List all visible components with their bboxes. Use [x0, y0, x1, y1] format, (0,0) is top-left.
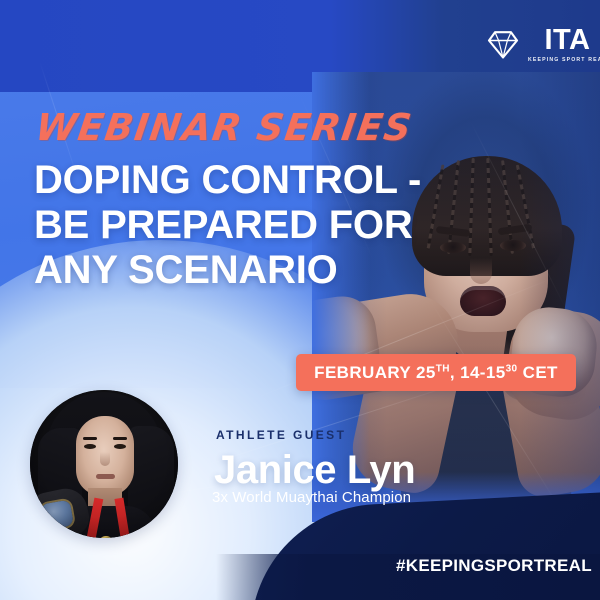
page-title: DOPING CONTROL - BE PREPARED FOR ANY SCE… — [34, 158, 474, 292]
time-range: 14-15 — [460, 363, 505, 382]
date-time-text: FEBRUARY 25TH, 14-1530 CET — [314, 363, 558, 383]
ita-diamond-logo-icon — [486, 29, 520, 61]
date-separator: , — [450, 363, 460, 382]
athlete-guest-name: Janice Lyn — [214, 450, 415, 490]
time-minutes: 30 — [506, 363, 518, 374]
headline-line-1: DOPING CONTROL - — [34, 158, 474, 203]
headline-line-3: ANY SCENARIO — [34, 248, 474, 293]
ita-tagline: KEEPING SPORT REAL — [528, 58, 600, 63]
date-day-suffix: TH — [436, 363, 450, 374]
date-time-badge: FEBRUARY 25TH, 14-1530 CET — [296, 354, 576, 391]
date-month-day: FEBRUARY 25 — [314, 363, 436, 382]
ita-wordmark: ITA — [544, 26, 590, 55]
ita-logo: ITA KEEPING SPORT REAL — [486, 26, 600, 63]
avatar — [30, 390, 178, 538]
time-zone: CET — [518, 363, 558, 382]
portrait-vignette — [30, 390, 178, 538]
webinar-series-kicker: WEBINAR SERIES — [33, 106, 415, 149]
headline-line-2: BE PREPARED FOR — [34, 203, 474, 248]
webinar-poster: ITA KEEPING SPORT REAL WEBINAR SERIES DO… — [0, 0, 600, 600]
athlete-guest-subtitle: 3x World Muaythai Champion — [212, 489, 411, 506]
athlete-guest-label: ATHLETE GUEST — [216, 428, 346, 442]
campaign-hashtag: #KEEPINGSPORTREAL — [396, 556, 592, 576]
